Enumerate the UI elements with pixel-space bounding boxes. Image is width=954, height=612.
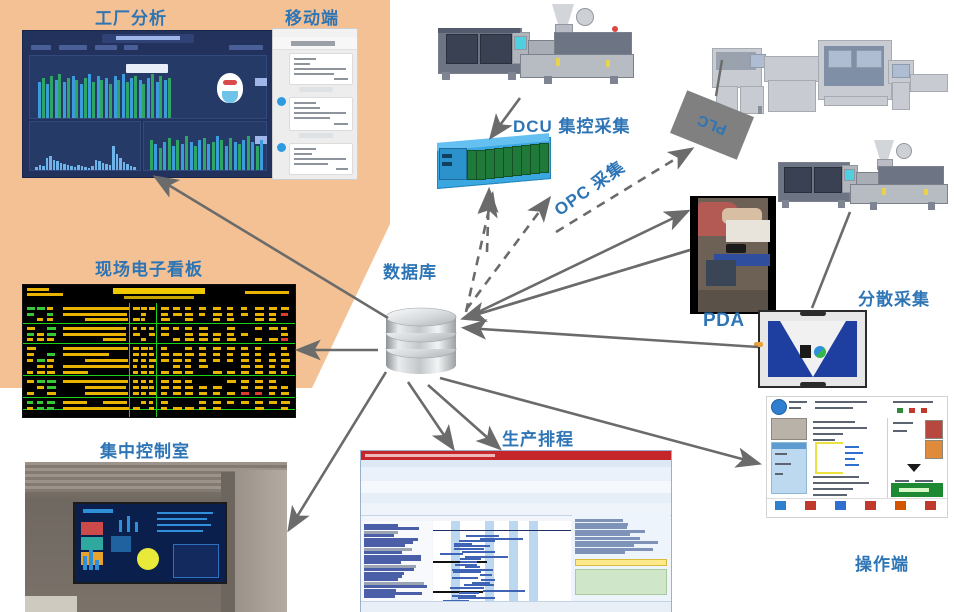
app-header: [767, 397, 947, 415]
chart-bar: [159, 76, 162, 118]
kanban-cell: [103, 307, 129, 310]
kanban-cell: [227, 380, 236, 383]
kanban-cell: [213, 359, 220, 362]
pillar: [235, 470, 287, 612]
kanban-cell: [281, 359, 290, 362]
kanban-cell: [47, 318, 53, 321]
kanban-cell: [185, 318, 193, 321]
chart-bar: [46, 84, 49, 118]
kanban-cell: [37, 401, 43, 404]
kanban-cell: [173, 407, 182, 410]
detail-table-row[interactable]: [575, 526, 627, 529]
kanban-cell: [213, 407, 221, 410]
kanban-cell: [103, 347, 128, 350]
kanban-cell: [281, 338, 288, 341]
kanban-cell: [173, 392, 181, 395]
kanban-cell: [47, 333, 56, 336]
status-bar-green: [891, 483, 943, 497]
app-footer-toolbar[interactable]: [767, 498, 947, 517]
kanban-cell: [149, 347, 153, 350]
kanban-cell: [227, 353, 233, 356]
kanban-cell: [281, 407, 288, 410]
kanban-cell: [63, 347, 87, 350]
kanban-cell: [185, 313, 193, 316]
order-row[interactable]: [364, 595, 395, 598]
kanban-cell: [141, 327, 146, 330]
kanban-cell: [269, 359, 276, 362]
kanban-cell: [133, 347, 139, 350]
chart-bar: [63, 164, 66, 170]
kanban-cell: [173, 313, 182, 316]
kanban-cell: [227, 401, 234, 404]
kanban-cell: [199, 313, 205, 316]
kanban-cell: [281, 371, 287, 374]
kanban-cell: [103, 313, 127, 316]
detail-panel: [809, 418, 888, 499]
kanban-cell: [47, 327, 56, 330]
kanban-cell: [133, 333, 140, 336]
chat-message-card[interactable]: [289, 53, 353, 85]
wall-monitor: [73, 502, 227, 584]
app-toolbar-primary[interactable]: [361, 467, 671, 482]
kanban-cell: [199, 307, 206, 310]
chart-bar: [80, 84, 83, 118]
kanban-cell: [149, 386, 154, 389]
kanban-cell: [161, 333, 169, 336]
kanban-cell: [47, 371, 55, 374]
chart-bar: [119, 158, 122, 170]
kanban-cell: [161, 359, 169, 362]
kanban-cell: [173, 371, 182, 374]
chart-bar: [126, 82, 129, 118]
kanban-cell: [47, 313, 53, 316]
kanban-cell: [133, 386, 139, 389]
kanban-cell: [241, 347, 248, 350]
detail-table-row[interactable]: [575, 548, 653, 551]
chart-bar: [242, 140, 245, 170]
gantt-chart-panel[interactable]: [433, 521, 571, 601]
kanban-cell: [161, 380, 169, 383]
kanban-cell: [269, 353, 275, 356]
info-panel[interactable]: [771, 442, 807, 494]
kanban-cell: [149, 392, 156, 395]
footer-icon[interactable]: [925, 501, 936, 510]
kanban-cell: [255, 365, 263, 368]
chart-bar: [247, 136, 250, 170]
part-thumbnail: [771, 418, 807, 440]
kanban-cell: [199, 365, 208, 368]
kanban-cell: [199, 347, 206, 350]
edge-db-to-scheduling: [408, 382, 452, 447]
kanban-cell: [255, 353, 261, 356]
edge-db-to-pda-photo: [470, 212, 686, 316]
footer-icon[interactable]: [835, 501, 846, 510]
chart-bar: [190, 142, 193, 170]
phone-nav-bar: [273, 37, 357, 50]
kanban-cell: [161, 401, 168, 404]
kanban-cell: [213, 338, 220, 341]
edge-pda-to-db: [465, 250, 690, 318]
kanban-cell: [227, 318, 234, 321]
chart-bar: [229, 138, 232, 170]
gantt-task-bar[interactable]: [452, 577, 478, 579]
gantt-task-bar[interactable]: [450, 587, 484, 589]
chart-bar: [176, 140, 179, 170]
kanban-cell: [269, 318, 276, 321]
footer-icon[interactable]: [895, 501, 906, 510]
kanban-cell: [185, 371, 193, 374]
kanban-cell: [141, 347, 148, 350]
kanban-cell: [281, 353, 289, 356]
app-status-bar: [361, 601, 671, 612]
kanban-cell: [149, 365, 154, 368]
kanban-cell: [281, 347, 287, 350]
chart-bar: [72, 76, 75, 118]
chart-bar: [58, 74, 61, 118]
chat-time-divider: [299, 87, 333, 92]
kanban-cell: [47, 338, 54, 341]
kanban-header: [23, 287, 295, 303]
kanban-cell: [103, 392, 128, 395]
detail-table-row[interactable]: [575, 533, 630, 536]
kanban-cell: [213, 307, 221, 310]
kanban-cell: [173, 327, 179, 330]
kanban-cell: [47, 307, 53, 310]
pda-usage-photo: [690, 196, 776, 314]
chart-bar: [181, 144, 184, 170]
kanban-cell: [173, 338, 180, 341]
label-pda: PDA: [703, 310, 745, 332]
chart-bar: [122, 74, 125, 118]
gantt-task-bar[interactable]: [440, 553, 463, 555]
chart-bar: [98, 161, 101, 170]
chart-bar: [168, 78, 171, 118]
dashboard-toolbar: [29, 45, 267, 51]
kanban-cell: [103, 327, 126, 330]
detail-table-row[interactable]: [575, 544, 634, 547]
kanban-cell: [103, 338, 126, 341]
dcu-device-photo: [437, 136, 549, 186]
floor: [25, 596, 77, 612]
label-opc: OPC 采集: [548, 153, 629, 220]
highlight-bracket: [815, 442, 843, 474]
edge-dcu-to-db: [466, 196, 492, 312]
gantt-task-bar[interactable]: [453, 571, 481, 573]
chart-bar: [168, 138, 171, 170]
production-line-photo: [706, 38, 950, 116]
kanban-cell: [103, 386, 126, 389]
kanban-cell: [27, 338, 33, 341]
chart-bar: [70, 166, 73, 170]
chart-bar: [133, 167, 136, 170]
kanban-cell: [173, 307, 180, 310]
chart-bar: [95, 160, 98, 170]
kanban-cell: [37, 407, 44, 410]
kanban-cell: [185, 307, 191, 310]
kanban-cell: [227, 347, 235, 350]
kanban-cell: [133, 307, 140, 310]
kanban-cell: [227, 359, 233, 362]
kanban-cell: [149, 371, 154, 374]
kanban-cell: [199, 353, 206, 356]
chat-avatar: [277, 97, 286, 106]
chart-bar: [109, 165, 112, 170]
kanban-cell: [213, 386, 222, 389]
operator-photo: [925, 440, 943, 459]
dashboard-chart-bottom-right: [143, 121, 267, 171]
kanban-cell: [269, 338, 278, 341]
kanban-cell: [241, 401, 249, 404]
distributed-collection-terminal: [758, 310, 867, 388]
kanban-cell: [269, 371, 276, 374]
kanban-cell: [27, 407, 33, 410]
kanban-cell: [255, 392, 262, 395]
kanban-cell: [227, 392, 235, 395]
edge-scheduling-return: [428, 385, 498, 447]
kanban-cell: [213, 392, 220, 395]
chart-bar: [81, 166, 84, 170]
kanban-cell: [133, 407, 140, 410]
kanban-cell: [199, 386, 207, 389]
chart-bar: [112, 146, 115, 170]
kanban-cell: [141, 371, 147, 374]
kanban-cell: [141, 313, 146, 316]
factory-analysis-dashboard[interactable]: [22, 30, 274, 178]
kanban-cell: [141, 386, 148, 389]
kanban-cell: [103, 380, 128, 383]
kanban-cell: [149, 380, 153, 383]
kanban-cell: [255, 318, 264, 321]
detail-table-row[interactable]: [575, 519, 623, 522]
kanban-cell: [173, 359, 182, 362]
kanban-cell: [37, 338, 44, 341]
kanban-cell: [133, 365, 137, 368]
dashboard-chart-bottom-left: [29, 121, 141, 171]
order-list-panel[interactable]: [362, 521, 432, 601]
kanban-cell: [47, 359, 54, 362]
kanban-cell: [63, 333, 87, 336]
detail-table-row[interactable]: [575, 551, 625, 554]
kanban-cell: [185, 327, 192, 330]
kanban-cell: [255, 313, 264, 316]
kanban-cell: [185, 365, 191, 368]
kanban-cell: [269, 401, 277, 404]
chart-bar: [130, 166, 133, 170]
kanban-cell: [241, 386, 248, 389]
kanban-cell: [37, 359, 45, 362]
kanban-cell: [255, 347, 261, 350]
kanban-cell: [133, 327, 137, 330]
kanban-cell: [241, 371, 249, 374]
chart-bar: [109, 84, 112, 118]
chart-bar: [100, 80, 103, 118]
chart-bar: [67, 165, 70, 170]
kanban-cell: [37, 380, 45, 383]
kanban-cell: [281, 313, 288, 316]
kanban-cell: [199, 401, 206, 404]
gantt-task-bar[interactable]: [462, 551, 495, 553]
kanban-cell: [161, 392, 167, 395]
kanban-cell: [161, 307, 169, 310]
kanban-cell: [269, 327, 278, 330]
detail-table-row[interactable]: [575, 530, 645, 533]
edge-pda-to-db-head: [465, 250, 690, 318]
kanban-cell: [133, 353, 139, 356]
kanban-cell: [27, 313, 34, 316]
kanban-cell: [269, 313, 276, 316]
chart-bar: [238, 144, 241, 170]
kanban-cell: [141, 359, 146, 362]
status-panel: [891, 418, 945, 499]
kanban-cell: [241, 353, 249, 356]
kanban-cell: [85, 353, 109, 356]
kanban-cell: [161, 347, 167, 350]
chart-bar: [50, 76, 53, 118]
kanban-cell: [27, 353, 34, 356]
chart-bar: [251, 142, 254, 170]
kanban-cell: [281, 401, 290, 404]
chart-bar: [56, 161, 59, 170]
edge-machine-right-to-terminal: [812, 212, 850, 308]
footer-icon[interactable]: [865, 501, 876, 510]
footer-icon[interactable]: [775, 501, 786, 510]
kanban-cell: [213, 318, 220, 321]
kanban-cell: [199, 338, 208, 341]
kanban-cell: [161, 353, 169, 356]
kanban-cell: [281, 333, 288, 336]
chart-bar: [105, 78, 108, 118]
kanban-cell: [47, 401, 55, 404]
kanban-cell: [255, 407, 264, 410]
chart-bar: [216, 136, 219, 170]
chart-bar: [105, 164, 108, 170]
kanban-cell: [227, 313, 233, 316]
kanban-cell: [173, 353, 182, 356]
kanban-cell: [185, 353, 194, 356]
detail-table-row[interactable]: [575, 537, 640, 540]
mobile-chat-screen[interactable]: [272, 28, 358, 180]
kanban-cell: [199, 392, 207, 395]
chart-bar: [42, 166, 45, 170]
kanban-cell: [173, 386, 181, 389]
dashboard-mascot-icon: [217, 73, 243, 103]
label-distributed: 分散采集: [858, 285, 930, 310]
kanban-cell: [255, 338, 262, 341]
detail-table-row[interactable]: [575, 523, 628, 526]
chart-bar: [185, 136, 188, 170]
kanban-cell: [103, 401, 127, 404]
kanban-cell: [199, 333, 208, 336]
chart-bar: [156, 82, 159, 118]
chart-bar: [260, 140, 263, 170]
kanban-cell: [161, 371, 169, 374]
kanban-cell: [269, 307, 277, 310]
kanban-cell: [185, 380, 192, 383]
kanban-cell: [213, 347, 221, 350]
phone-status-bar: [273, 29, 357, 37]
kanban-cell: [63, 371, 88, 374]
label-mobile: 移动端: [285, 4, 339, 29]
kanban-cell: [199, 327, 208, 330]
kanban-cell: [141, 365, 147, 368]
kanban-cell: [227, 333, 234, 336]
chart-bar: [67, 78, 70, 118]
detail-tables-panel[interactable]: [572, 515, 670, 601]
kanban-cell: [227, 371, 235, 374]
kanban-cell: [161, 386, 169, 389]
label-factory-analysis: 工厂分析: [95, 4, 167, 29]
chart-bar: [164, 80, 167, 118]
chart-bar: [92, 82, 95, 118]
chart-bar: [123, 162, 126, 170]
detail-table-row[interactable]: [575, 541, 658, 544]
chat-avatar: [277, 143, 286, 152]
kanban-cell: [281, 365, 289, 368]
kanban-cell: [149, 307, 155, 310]
chart-bar: [126, 164, 129, 170]
kanban-cell: [241, 313, 248, 316]
chart-bar: [55, 80, 58, 118]
chart-bar: [256, 146, 259, 170]
chart-bar: [88, 74, 91, 118]
kanban-cell: [213, 371, 222, 374]
kanban-cell: [161, 407, 167, 410]
chat-message-card[interactable]: [289, 97, 353, 131]
kanban-cell: [37, 307, 45, 310]
chart-bar: [84, 78, 87, 118]
kanban-cell: [103, 407, 129, 410]
kanban-cell: [269, 392, 275, 395]
chart-bar: [142, 84, 145, 118]
chart-bar: [114, 76, 117, 118]
chart-bar: [172, 146, 175, 170]
footer-icon[interactable]: [805, 501, 816, 510]
gantt-task-bar[interactable]: [483, 590, 525, 592]
kanban-cell: [161, 318, 170, 321]
kanban-cell: [27, 371, 33, 374]
kanban-cell: [227, 327, 235, 330]
kanban-cell: [149, 353, 154, 356]
kanban-cell: [149, 327, 154, 330]
chat-message-card[interactable]: [289, 143, 353, 175]
kanban-cell: [141, 338, 146, 341]
label-dcu: DCU 集控采集: [513, 112, 631, 137]
kanban-cell: [269, 386, 277, 389]
kanban-cell: [103, 365, 129, 368]
chart-bar: [147, 78, 150, 118]
kanban-cell: [103, 359, 128, 362]
kanban-cell: [63, 401, 87, 404]
chart-bar: [75, 80, 78, 118]
kanban-cell: [133, 359, 138, 362]
operator-photo: [925, 420, 943, 439]
chart-bar: [225, 146, 228, 170]
gantt-task-bar[interactable]: [480, 574, 492, 576]
kanban-cell: [185, 333, 193, 336]
label-operator: 操作端: [855, 550, 909, 575]
monitor-table: [173, 544, 219, 578]
operator-terminal-app[interactable]: [766, 396, 948, 518]
chart-bar: [212, 142, 215, 170]
injection-molding-machine-top-photo: [424, 2, 636, 94]
kanban-cell: [47, 386, 56, 389]
kanban-cell: [149, 359, 156, 362]
chart-bar: [74, 167, 77, 170]
chart-bar: [151, 74, 154, 118]
production-scheduling-app[interactable]: [360, 450, 672, 612]
kanban-cell: [199, 407, 206, 410]
kanban-cell: [149, 401, 153, 404]
